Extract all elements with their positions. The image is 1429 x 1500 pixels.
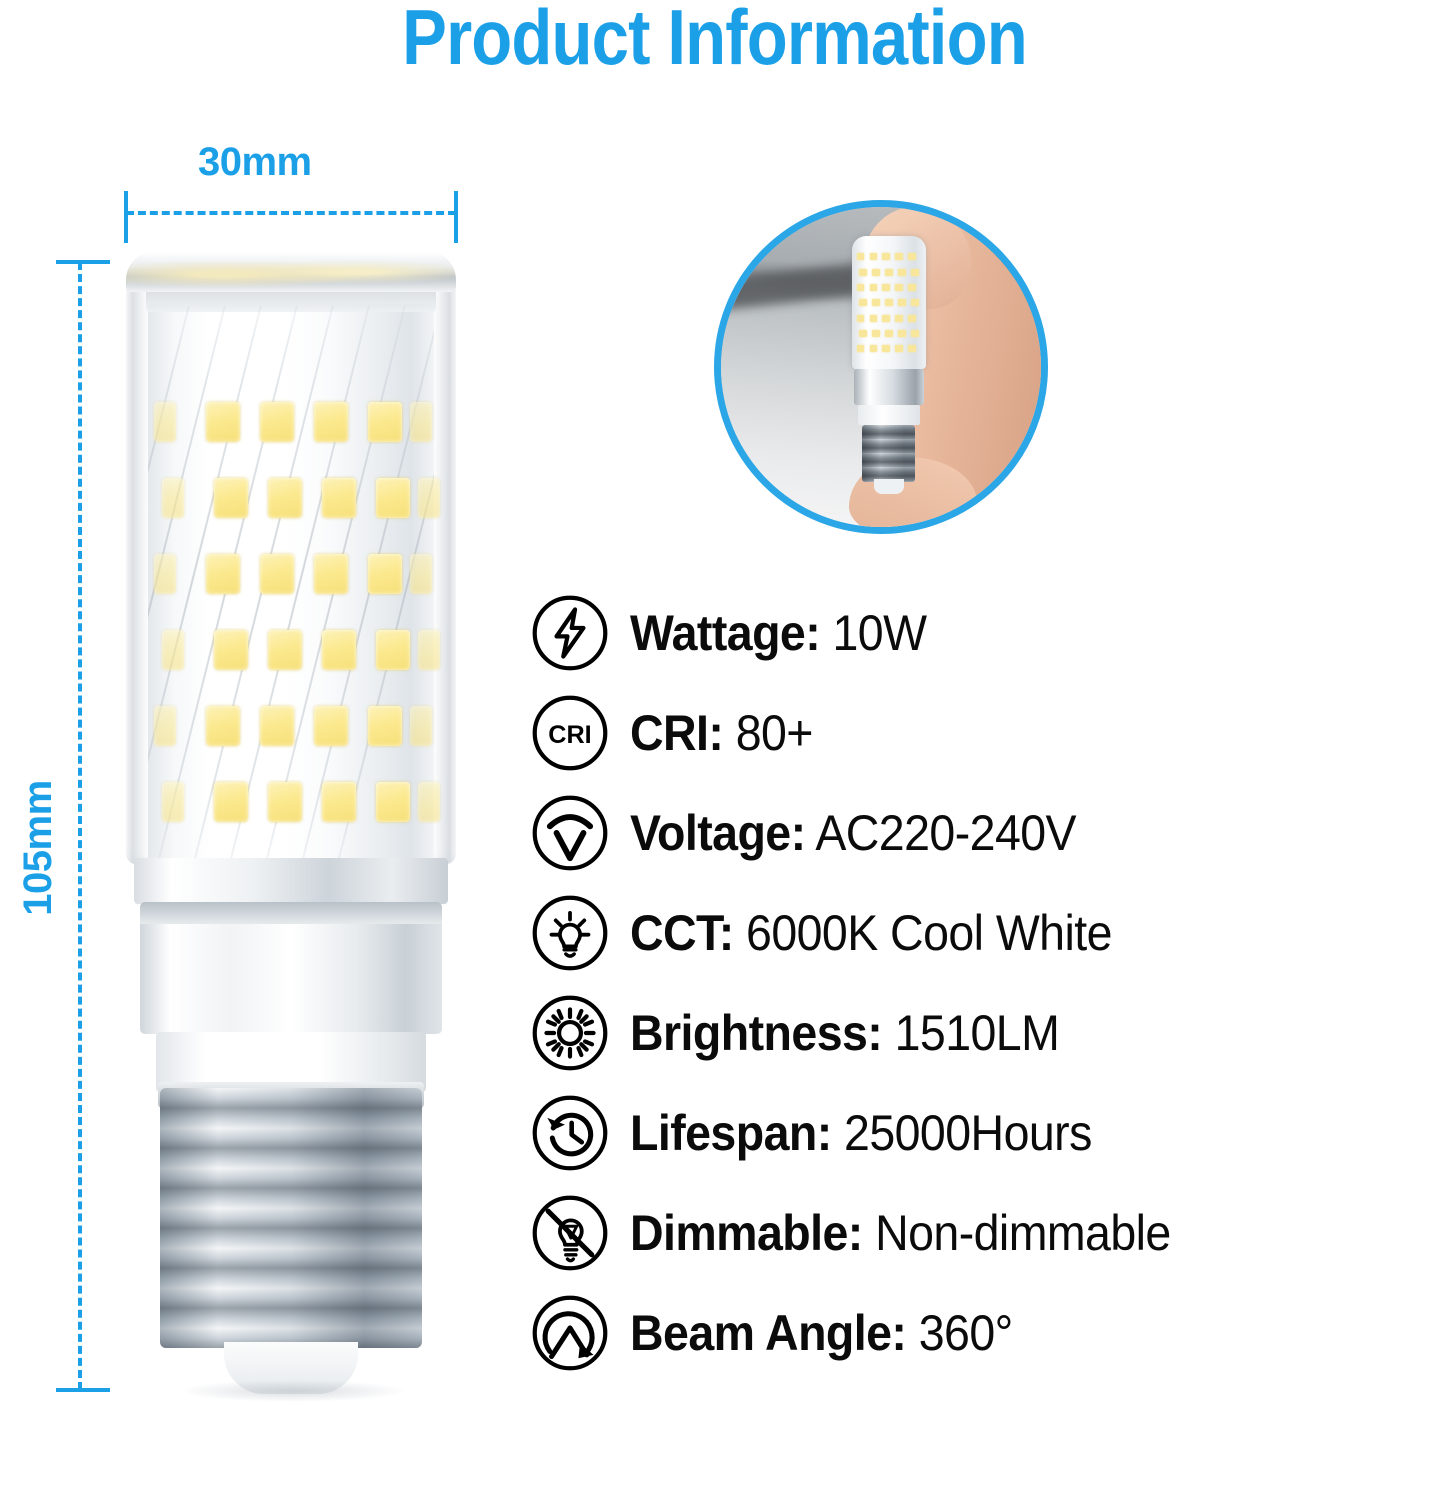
page-title: Product Information [100,0,1329,80]
spec-row-beam-angle: Beam Angle: 360° [528,1283,1429,1383]
bulb-drop-shadow [178,1380,408,1402]
inset-led-chip [895,315,903,322]
inset-led-chip [898,269,906,276]
inset-led-chip [882,284,890,291]
inset-bulb-collar [854,369,925,405]
led-chip [314,402,348,442]
spec-label: Voltage: [630,805,806,861]
cri-icon: CRI [528,691,612,775]
hand-holding-bulb-inset [714,200,1048,534]
led-chip [214,782,248,822]
inset-led-chip [872,330,880,337]
led-chip [376,630,410,670]
spec-text: Brightness: 1510LM [630,1005,1059,1061]
no-dimming-icon [528,1191,612,1275]
led-chip [368,554,402,594]
bulb-top-cap [126,252,456,292]
led-chip [206,554,240,594]
inset-bulb-tip [874,479,903,494]
spec-text: CCT: 6000K Cool White [630,905,1112,961]
inset-bulb-led-grid [857,249,922,367]
inset-bulb [852,236,926,492]
inset-led-chip [898,330,906,337]
spec-label: Brightness: [630,1005,882,1061]
led-chip [322,478,356,518]
led-chip [376,478,410,518]
inset-led-chip [882,345,890,352]
spec-label: Wattage: [630,605,820,661]
led-chip [314,554,348,594]
inset-led-chip [870,345,878,352]
inset-led-chip [895,253,903,260]
led-chip [410,554,432,594]
spec-text: Voltage: AC220-240V [630,805,1076,861]
bulb-e27-screw-base [160,1088,422,1348]
spec-value: AC220-240V [806,805,1076,861]
spec-text: Lifespan: 25000Hours [630,1105,1092,1161]
led-chip [418,630,440,670]
spec-label: Dimmable: [630,1205,863,1261]
bulb-led-chip-grid [148,306,434,864]
lightning-bolt-icon [528,591,612,675]
inset-led-chip [857,284,865,291]
inset-led-chip [908,315,916,322]
led-chip [260,706,294,746]
led-chip [268,782,302,822]
spec-value: 360° [906,1305,1012,1361]
spec-text: Beam Angle: 360° [630,1305,1013,1361]
product-information-page: Product Information 30mm 105mm [0,0,1429,1500]
inset-bulb-white-ring [858,405,920,425]
spec-label: CCT: [630,905,734,961]
color-temperature-icon [528,891,612,975]
spec-label: Beam Angle: [630,1305,906,1361]
inset-led-chip [898,299,906,306]
led-chip [410,402,432,442]
spec-label: Lifespan: [630,1105,832,1161]
inset-led-chip [908,345,916,352]
height-dimension-label: 105mm [16,768,60,928]
inset-led-chip [859,269,867,276]
led-chip [268,630,302,670]
inset-led-chip [885,269,893,276]
led-chip [368,402,402,442]
inset-led-chip [857,315,865,322]
inset-led-chip [885,330,893,337]
bulb-neck [134,858,448,904]
led-chip [418,478,440,518]
led-bulb-illustration [118,252,464,1392]
led-chip [410,706,432,746]
led-chip [154,402,176,442]
inset-led-chip [872,269,880,276]
spec-row-wattage: Wattage: 10W [528,583,1429,683]
spec-text: Wattage: 10W [630,605,926,661]
inset-bulb-screw-base [862,425,915,481]
beam-angle-icon [528,1291,612,1375]
spec-row-cri: CRICRI: 80+ [528,683,1429,783]
spec-value: 10W [820,605,926,661]
led-chip [322,782,356,822]
led-chip [206,706,240,746]
inset-led-chip [857,253,865,260]
spec-row-lifespan: Lifespan: 25000Hours [528,1083,1429,1183]
sun-brightness-icon [528,991,612,1075]
spec-value: 80+ [723,705,813,761]
voltage-ac-icon [528,791,612,875]
led-chip [260,402,294,442]
spec-value: Non-dimmable [863,1205,1171,1261]
led-chip [206,402,240,442]
led-chip [154,554,176,594]
spec-text: Dimmable: Non-dimmable [630,1205,1171,1261]
led-chip [214,478,248,518]
spec-value: 1510LM [882,1005,1059,1061]
inset-led-chip [859,330,867,337]
height-dimension-line [78,262,82,1390]
spec-text: CRI: 80+ [630,705,813,761]
svg-text:CRI: CRI [548,721,591,749]
spec-row-dimmable: Dimmable: Non-dimmable [528,1183,1429,1283]
inset-led-chip [859,299,867,306]
led-chip [314,706,348,746]
width-dimension-label: 30mm [198,140,312,184]
led-chip [322,630,356,670]
led-chip [260,554,294,594]
led-chip [162,630,184,670]
led-chip [214,630,248,670]
clock-lifespan-icon [528,1091,612,1175]
inset-led-chip [911,269,919,276]
spec-label: CRI: [630,705,723,761]
bulb-collar-band [140,902,442,924]
inset-led-chip [870,284,878,291]
inset-led-chip [908,253,916,260]
inset-led-chip [882,253,890,260]
led-chip [418,782,440,822]
led-chip [368,706,402,746]
inset-led-chip [857,345,865,352]
inset-led-chip [911,330,919,337]
inset-led-chip [895,345,903,352]
width-dimension-line [126,211,456,215]
led-chip [162,478,184,518]
spec-row-voltage: Voltage: AC220-240V [528,783,1429,883]
inset-led-chip [885,299,893,306]
specification-list: Wattage: 10WCRICRI: 80+Voltage: AC220-24… [528,583,1429,1383]
led-chip [376,782,410,822]
inset-led-chip [895,284,903,291]
inset-led-chip [908,284,916,291]
inset-led-chip [872,299,880,306]
spec-value: 25000Hours [832,1105,1092,1161]
spec-row-brightness: Brightness: 1510LM [528,983,1429,1083]
led-chip [268,478,302,518]
spec-value: 6000K Cool White [734,905,1112,961]
inset-led-chip [882,315,890,322]
inset-led-chip [870,315,878,322]
led-chip [162,782,184,822]
spec-row-cct: CCT: 6000K Cool White [528,883,1429,983]
led-chip [154,706,176,746]
inset-led-chip [870,253,878,260]
inset-led-chip [911,299,919,306]
